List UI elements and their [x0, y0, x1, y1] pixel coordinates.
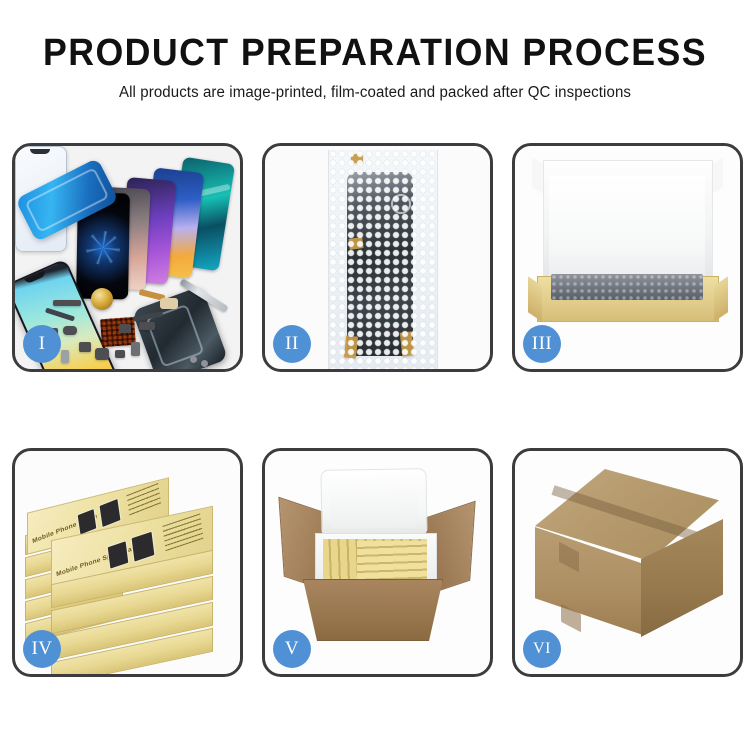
step-badge-5: V: [273, 630, 311, 668]
spare-part: [63, 326, 77, 335]
speaker-module: [91, 288, 113, 310]
flex-cable: [160, 298, 178, 309]
page-header: PRODUCT PREPARATION PROCESS All products…: [0, 0, 750, 102]
spare-part: [53, 300, 81, 306]
bubble-texture: [329, 150, 437, 369]
process-step-panel-3[interactable]: III: [512, 143, 743, 372]
bubble-wrap-bag: [328, 150, 438, 369]
process-step-panel-1[interactable]: I: [12, 143, 243, 372]
box-label-screen-image: [98, 498, 121, 529]
bubble-wrapped-contents: [551, 274, 703, 300]
spare-part: [119, 324, 131, 333]
spare-part: [61, 350, 69, 363]
page-title: PRODUCT PREPARATION PROCESS: [23, 34, 728, 74]
carton-body: [303, 579, 443, 641]
process-step-panel-5[interactable]: V: [262, 448, 493, 677]
process-step-panel-4[interactable]: Mobile Phone Spare Parts Mobile Phone Sp…: [12, 448, 243, 677]
foam-cooler-lid: [320, 468, 427, 538]
spare-part: [131, 342, 140, 356]
process-step-grid: I II III: [12, 143, 739, 677]
yellow-boxes-row-right: [357, 541, 427, 583]
box-label-spec-lines: [162, 513, 203, 553]
box-label-screen-image: [107, 540, 130, 570]
spare-part: [139, 322, 155, 330]
spare-part: [190, 356, 197, 363]
step-badge-1: I: [23, 325, 61, 363]
foam-sheet: [549, 176, 705, 276]
spare-part: [201, 360, 208, 367]
process-step-panel-2[interactable]: II: [262, 143, 493, 372]
step-badge-2: II: [273, 325, 311, 363]
step-badge-4: IV: [23, 630, 61, 668]
step-badge-3: III: [523, 325, 561, 363]
box-label-spec-lines: [126, 483, 161, 518]
spare-part: [115, 350, 125, 358]
step-badge-6: VI: [523, 630, 561, 668]
spare-part: [95, 348, 109, 360]
box-label-screen-image: [130, 530, 155, 562]
spare-part: [79, 342, 91, 352]
page-subtitle: All products are image-printed, film-coa…: [11, 84, 739, 102]
process-step-panel-6[interactable]: VI: [512, 448, 743, 677]
